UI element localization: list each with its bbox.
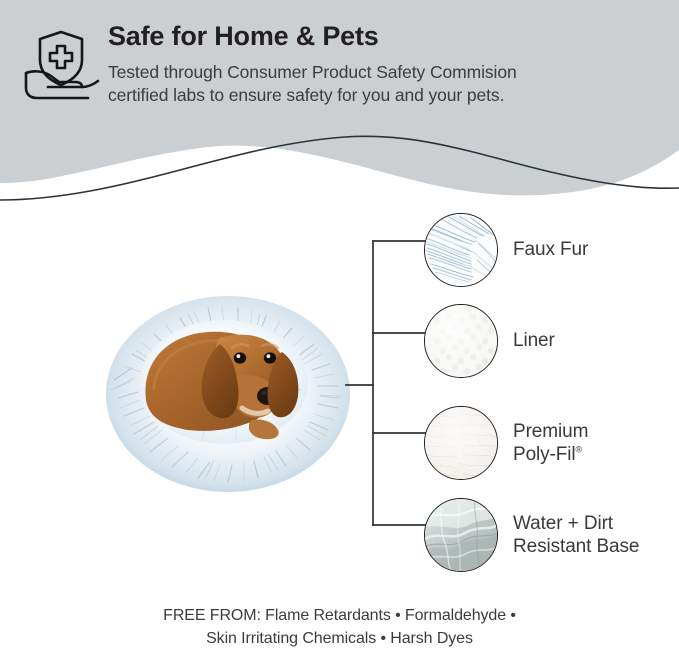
header-subtitle-line-1: Tested through Consumer Product Safety C… (108, 61, 668, 84)
shield-cross-hand-icon (18, 26, 104, 108)
faux-fur-swatch (424, 213, 498, 287)
feature-label-faux-fur: Faux Fur (513, 238, 588, 261)
feature-label-line-1: Premium (513, 420, 588, 443)
feature-row-liner: Liner (424, 302, 679, 380)
footer-line-1: FREE FROM: Flame Retardants • Formaldehy… (0, 604, 679, 627)
feature-label-line-2: Resistant Base (513, 535, 639, 558)
feature-label-resistant-base: Water + Dirt Resistant Base (513, 512, 639, 558)
header-subtitle-line-2: certified labs to ensure safety for you … (108, 84, 668, 107)
registered-trademark-symbol: ® (576, 445, 583, 455)
poly-fil-swatch (424, 406, 498, 480)
water-dirt-resistant-base-swatch (424, 498, 498, 572)
feature-row-resistant-base: Water + Dirt Resistant Base (424, 496, 679, 574)
footer-line-2: Skin Irritating Chemicals • Harsh Dyes (0, 627, 679, 650)
liner-swatch (424, 304, 498, 378)
header-subtitle: Tested through Consumer Product Safety C… (108, 61, 668, 107)
feature-label-poly-fil: Premium Poly-Fil® (513, 420, 588, 466)
page-title: Safe for Home & Pets (108, 20, 668, 54)
feature-label-line-1: Faux Fur (513, 238, 588, 261)
header-content: Safe for Home & Pets Tested through Cons… (0, 0, 679, 130)
feature-row-poly-fil: Premium Poly-Fil® (424, 404, 679, 482)
product-infographic: Safe for Home & Pets Tested through Cons… (0, 0, 679, 655)
feature-row-faux-fur: Faux Fur (424, 211, 679, 289)
header-text-block: Safe for Home & Pets Tested through Cons… (108, 20, 668, 107)
product-photo (102, 272, 354, 498)
footer-free-from: FREE FROM: Flame Retardants • Formaldehy… (0, 604, 679, 650)
feature-label-line-1: Water + Dirt (513, 512, 639, 535)
feature-label-line-1: Liner (513, 329, 555, 352)
feature-label-line-2-text: Poly-Fil (513, 444, 576, 465)
feature-label-line-2: Poly-Fil® (513, 443, 588, 466)
feature-label-liner: Liner (513, 329, 555, 352)
